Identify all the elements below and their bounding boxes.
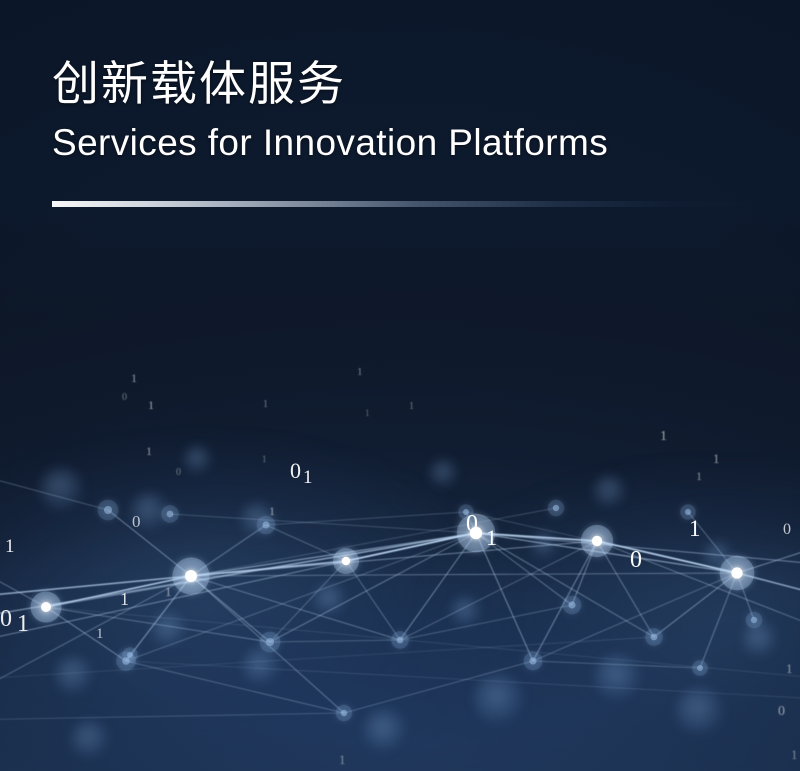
- binary-digit: 1: [303, 468, 313, 487]
- mesh-node: [391, 631, 409, 649]
- banner-header: 创新载体服务 Services for Innovation Platforms: [52, 56, 752, 164]
- binary-digit: 1: [269, 505, 275, 517]
- binary-digit: 1: [786, 662, 793, 675]
- binary-digit: 1: [148, 399, 154, 411]
- binary-digit: 1: [660, 430, 667, 444]
- mesh-node-layer: [31, 500, 763, 722]
- mesh-node: [161, 505, 179, 523]
- mesh-edge: [170, 514, 476, 533]
- binary-digit: 0: [176, 468, 181, 478]
- mesh-edge: [0, 637, 654, 680]
- mesh-edge: [126, 661, 344, 713]
- mesh-edge: [344, 661, 533, 713]
- mesh-edge: [0, 533, 476, 620]
- binary-digit: 1: [696, 470, 702, 482]
- innovation-platforms-banner: 10111111010101101010111011111101 创新载体服务 …: [0, 0, 800, 771]
- binary-digit: 1: [357, 367, 363, 378]
- binary-digit: 1: [713, 452, 720, 465]
- binary-digit: 1: [262, 455, 267, 464]
- mesh-node: [746, 612, 763, 629]
- mesh-edge: [400, 533, 476, 640]
- mesh-edge: [533, 573, 737, 661]
- mesh-node: [548, 500, 565, 517]
- mesh-edge: [270, 561, 346, 642]
- mesh-edge: [191, 573, 737, 576]
- binary-digit: 0: [0, 607, 12, 631]
- mesh-node: [257, 516, 276, 535]
- mesh-node: [563, 596, 582, 615]
- mesh-node: [122, 647, 138, 663]
- binary-digit: 0: [122, 393, 127, 403]
- title-divider-rule: [52, 201, 752, 207]
- mesh-edge: [346, 561, 400, 640]
- mesh-edge: [270, 533, 476, 642]
- binary-digit: 1: [146, 445, 152, 457]
- mesh-edge: [533, 661, 700, 668]
- binary-digit: 1: [486, 527, 497, 549]
- mesh-node: [336, 705, 353, 722]
- mesh-node: [720, 556, 755, 591]
- mesh-edge: [191, 533, 476, 576]
- binary-digit: 0: [290, 460, 301, 482]
- binary-digit: 0: [778, 705, 785, 719]
- binary-digit: 1: [120, 590, 129, 608]
- mesh-node: [692, 660, 708, 676]
- binary-digit: 0: [466, 512, 478, 536]
- page-title-chinese: 创新载体服务: [52, 56, 752, 111]
- binary-digit: 1: [409, 402, 414, 412]
- mesh-edge: [0, 470, 108, 510]
- mesh-edge: [476, 533, 533, 661]
- mesh-edge: [266, 512, 466, 525]
- binary-digit: 1: [17, 612, 29, 636]
- binary-digit: 1: [5, 537, 15, 556]
- binary-digit: 1: [365, 409, 370, 418]
- mesh-node: [581, 525, 613, 557]
- mesh-edge: [0, 533, 476, 645]
- mesh-edge: [0, 713, 344, 720]
- mesh-node: [172, 557, 209, 594]
- mesh-edge: [400, 605, 572, 640]
- mesh-edge: [266, 525, 346, 561]
- page-title-english: Services for Innovation Platforms: [52, 123, 752, 164]
- binary-digit: 1: [165, 585, 172, 598]
- mesh-edge: [191, 576, 400, 640]
- mesh-node: [98, 500, 119, 521]
- mesh-edge: [270, 640, 400, 642]
- mesh-node: [31, 592, 62, 623]
- mesh-node: [333, 548, 359, 574]
- binary-digit: 0: [630, 548, 642, 572]
- mesh-node: [645, 628, 663, 646]
- binary-digit: 1: [689, 517, 701, 540]
- binary-digit: 1: [96, 627, 104, 642]
- mesh-node: [260, 632, 281, 653]
- binary-digit: 1: [263, 400, 268, 410]
- binary-digit: 1: [131, 372, 137, 384]
- binary-digit: 0: [132, 513, 141, 530]
- mesh-node: [524, 652, 543, 671]
- binary-digit: 0: [783, 522, 791, 538]
- binary-digit: 1: [791, 748, 798, 761]
- binary-digit: 1: [339, 753, 346, 766]
